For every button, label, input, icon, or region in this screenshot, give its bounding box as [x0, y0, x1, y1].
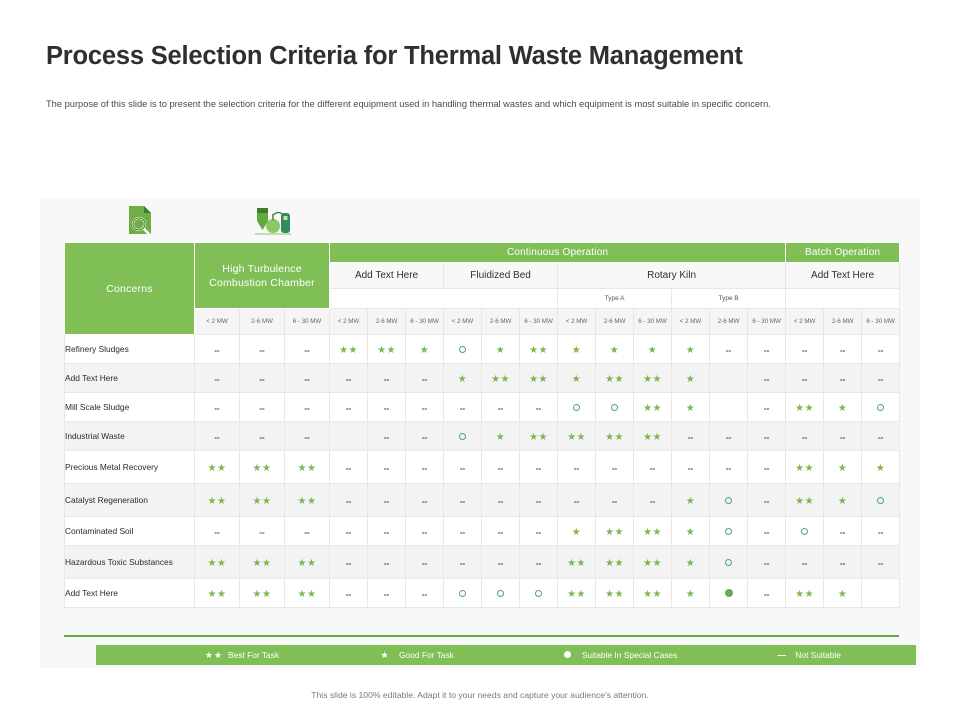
marker-not-suitable: --	[384, 529, 389, 537]
cell-r9-c13: ★	[672, 579, 710, 608]
cell-r6-c12: --	[634, 484, 672, 517]
cell-r4-c4	[330, 422, 368, 451]
cell-r7-c7: --	[444, 517, 482, 546]
cell-r9-c18	[862, 579, 900, 608]
cell-r4-c5: --	[368, 422, 406, 451]
header-mw-8: 2-6 MW	[482, 309, 520, 335]
table-row: Catalyst Regeneration★★★★★★-------------…	[65, 484, 900, 517]
cell-r5-c3: ★★	[285, 451, 330, 484]
cell-r8-c1: ★★	[195, 546, 240, 579]
marker-not-suitable: --	[764, 376, 769, 384]
cell-r1-c17: --	[824, 335, 862, 364]
industrial-plant-icon	[254, 204, 292, 236]
cell-r4-c7	[444, 422, 482, 451]
cell-r6-c5: --	[368, 484, 406, 517]
marker-not-suitable: --	[422, 591, 427, 599]
table-row: Refinery Sludges------★★★★★★★★★★★★------…	[65, 335, 900, 364]
marker-best-for-task: ★★	[795, 497, 814, 507]
cell-r3-c15: --	[748, 393, 786, 422]
cell-r4-c3: --	[285, 422, 330, 451]
marker-not-suitable: --	[764, 434, 769, 442]
marker-not-suitable: --	[878, 347, 883, 355]
marker-not-suitable: --	[304, 529, 309, 537]
cell-r9-c9	[520, 579, 558, 608]
marker-good-for-task: ★	[686, 346, 695, 356]
cell-r3-c7: --	[444, 393, 482, 422]
cell-r5-c8: --	[482, 451, 520, 484]
cell-r2-c13: ★	[672, 364, 710, 393]
cell-r7-c9: --	[520, 517, 558, 546]
marker-not-suitable: --	[498, 405, 503, 413]
table-row: Add Text Here------------★★★★★★★★★★★----…	[65, 364, 900, 393]
marker-not-suitable: --	[764, 529, 769, 537]
cell-r7-c16	[786, 517, 824, 546]
cell-r8-c7: --	[444, 546, 482, 579]
cell-r2-c12: ★★	[634, 364, 672, 393]
cell-r4-c11: ★★	[596, 422, 634, 451]
marker-not-suitable: --	[802, 376, 807, 384]
cell-r2-c8: ★★	[482, 364, 520, 393]
cell-r4-c10: ★★	[558, 422, 596, 451]
marker-best-for-task: ★★	[253, 464, 272, 474]
marker-good-for-task: ★	[686, 375, 695, 385]
marker-best-for-task: ★★	[529, 346, 548, 356]
cell-r1-c8: ★	[482, 335, 520, 364]
legend-label-4: Not Suitable	[795, 650, 841, 660]
cell-r7-c6: --	[406, 517, 444, 546]
marker-best-for-task: ★★	[643, 433, 662, 443]
table-row: Industrial Waste----------★★★★★★★★★-----…	[65, 422, 900, 451]
header-type-blank-2	[786, 289, 900, 309]
marker-good-for-task: ★	[838, 404, 847, 414]
cell-r5-c1: ★★	[195, 451, 240, 484]
legend-item-1: ★★Best For Task	[200, 650, 279, 661]
marker-not-suitable: --	[422, 498, 427, 506]
cell-r7-c12: ★★	[634, 517, 672, 546]
marker-special-case-outline	[801, 528, 808, 535]
marker-special-case-outline	[725, 559, 732, 566]
cell-r7-c8: --	[482, 517, 520, 546]
cell-r8-c8: --	[482, 546, 520, 579]
marker-not-suitable: --	[422, 434, 427, 442]
cell-r9-c12: ★★	[634, 579, 672, 608]
cell-r2-c7: ★	[444, 364, 482, 393]
cell-r8-c6: --	[406, 546, 444, 579]
cell-r5-c4: --	[330, 451, 368, 484]
cell-r1-c16: --	[786, 335, 824, 364]
header-type-blank	[330, 289, 558, 309]
marker-good-for-task: ★	[838, 464, 847, 474]
marker-good-for-task: ★	[496, 346, 505, 356]
cell-r1-c11: ★	[596, 335, 634, 364]
cell-r7-c5: --	[368, 517, 406, 546]
cell-r7-c13: ★	[672, 517, 710, 546]
header-high-turbulence-combustion-chamber: High Turbulence Combustion Chamber	[195, 243, 330, 309]
cell-r8-c11: ★★	[596, 546, 634, 579]
marker-best-for-task: ★★	[567, 590, 586, 600]
cell-r3-c9: --	[520, 393, 558, 422]
marker-not-suitable: --	[536, 498, 541, 506]
header-concerns: Concerns	[65, 243, 195, 335]
marker-special-case-outline	[535, 590, 542, 597]
cell-r2-c16: --	[786, 364, 824, 393]
cell-r5-c13: --	[672, 451, 710, 484]
cell-r7-c15: --	[748, 517, 786, 546]
header-mw-15: 6 - 30 MW	[748, 309, 786, 335]
marker-best-for-task: ★★	[298, 590, 317, 600]
marker-not-suitable: --	[460, 405, 465, 413]
cell-r2-c14	[710, 364, 748, 393]
marker-not-suitable: --	[536, 405, 541, 413]
marker-not-suitable: --	[878, 529, 883, 537]
marker-not-suitable: --	[259, 405, 264, 413]
cell-r2-c1: --	[195, 364, 240, 393]
cell-r9-c7	[444, 579, 482, 608]
header-type-a: Type A	[558, 289, 672, 309]
cell-r9-c15: --	[748, 579, 786, 608]
legend-marker-4: ––	[767, 650, 795, 660]
marker-good-for-task: ★	[420, 346, 429, 356]
marker-good-for-task: ★	[458, 375, 467, 385]
cell-r1-c15: --	[748, 335, 786, 364]
marker-not-suitable: --	[304, 347, 309, 355]
cell-r5-c14: --	[710, 451, 748, 484]
cell-r9-c5: --	[368, 579, 406, 608]
marker-not-suitable: --	[346, 529, 351, 537]
cell-r4-c13: --	[672, 422, 710, 451]
marker-not-suitable: --	[422, 376, 427, 384]
cell-r3-c12: ★★	[634, 393, 672, 422]
row-label-5: Precious Metal Recovery	[65, 451, 195, 484]
cell-r6-c17: ★	[824, 484, 862, 517]
cell-r6-c14	[710, 484, 748, 517]
header-mw-9: 6 - 30 MW	[520, 309, 558, 335]
marker-not-suitable: --	[574, 465, 579, 473]
cell-r4-c8: ★	[482, 422, 520, 451]
cell-r8-c10: ★★	[558, 546, 596, 579]
cell-r3-c11	[596, 393, 634, 422]
cell-r9-c6: --	[406, 579, 444, 608]
cell-r2-c5: --	[368, 364, 406, 393]
marker-good-for-task: ★	[838, 497, 847, 507]
marker-good-for-task: ★	[838, 590, 847, 600]
marker-not-suitable: --	[498, 465, 503, 473]
marker-special-case-outline	[573, 404, 580, 411]
marker-not-suitable: --	[384, 498, 389, 506]
marker-not-suitable: --	[802, 560, 807, 568]
cell-r3-c16: ★★	[786, 393, 824, 422]
header-mw-1: < 2 MW	[195, 309, 240, 335]
table-panel: Concerns High Turbulence Combustion Cham…	[40, 198, 920, 668]
cell-r4-c2: --	[240, 422, 285, 451]
marker-not-suitable: --	[536, 560, 541, 568]
cell-r8-c4: --	[330, 546, 368, 579]
cell-r4-c1: --	[195, 422, 240, 451]
marker-not-suitable: --	[764, 591, 769, 599]
marker-best-for-task: ★★	[567, 559, 586, 569]
marker-not-suitable: --	[422, 405, 427, 413]
cell-r8-c14	[710, 546, 748, 579]
cell-r4-c14: --	[710, 422, 748, 451]
cell-r6-c18	[862, 484, 900, 517]
cell-r8-c2: ★★	[240, 546, 285, 579]
marker-not-suitable: --	[384, 560, 389, 568]
cell-r5-c5: --	[368, 451, 406, 484]
marker-good-for-task: ★	[496, 433, 505, 443]
header-batch-operation: Batch Operation	[786, 243, 900, 263]
marker-not-suitable: --	[422, 529, 427, 537]
cell-r1-c6: ★	[406, 335, 444, 364]
marker-not-suitable: --	[346, 465, 351, 473]
header-mw-3: 6 - 30 MW	[285, 309, 330, 335]
marker-special-case-outline	[725, 528, 732, 535]
header-add-text-here-1: Add Text Here	[330, 263, 444, 289]
marker-not-suitable: --	[460, 498, 465, 506]
cell-r8-c12: ★★	[634, 546, 672, 579]
row-label-2: Add Text Here	[65, 364, 195, 393]
marker-not-suitable: --	[460, 560, 465, 568]
header-mw-14: 2-6 MW	[710, 309, 748, 335]
marker-best-for-task: ★★	[605, 433, 624, 443]
legend-label-3: Suitable In Special Cases	[582, 650, 677, 660]
cell-r1-c2: --	[240, 335, 285, 364]
marker-not-suitable: --	[346, 591, 351, 599]
cell-r2-c17: --	[824, 364, 862, 393]
header-rotary-kiln: Rotary Kiln	[558, 263, 786, 289]
row-label-3: Mill Scale Sludge	[65, 393, 195, 422]
cell-r1-c5: ★★	[368, 335, 406, 364]
cell-r6-c9: --	[520, 484, 558, 517]
marker-not-suitable: --	[764, 405, 769, 413]
cell-r8-c16: --	[786, 546, 824, 579]
cell-r2-c10: ★	[558, 364, 596, 393]
marker-best-for-task: ★★	[529, 375, 548, 385]
cell-r3-c13: ★	[672, 393, 710, 422]
row-label-4: Industrial Waste	[65, 422, 195, 451]
cell-r4-c16: --	[786, 422, 824, 451]
cell-r5-c9: --	[520, 451, 558, 484]
marker-not-suitable: --	[259, 347, 264, 355]
cell-r8-c17: --	[824, 546, 862, 579]
cell-r8-c9: --	[520, 546, 558, 579]
marker-best-for-task: ★★	[253, 497, 272, 507]
marker-not-suitable: --	[259, 529, 264, 537]
cell-r6-c7: --	[444, 484, 482, 517]
cell-r4-c17: --	[824, 422, 862, 451]
marker-best-for-task: ★★	[643, 559, 662, 569]
cell-r9-c14	[710, 579, 748, 608]
marker-not-suitable: --	[840, 347, 845, 355]
row-label-7: Contaminated Soil	[65, 517, 195, 546]
cell-r8-c5: --	[368, 546, 406, 579]
marker-best-for-task: ★★	[643, 590, 662, 600]
marker-not-suitable: --	[384, 591, 389, 599]
marker-not-suitable: --	[840, 560, 845, 568]
cell-r2-c9: ★★	[520, 364, 558, 393]
marker-not-suitable: --	[346, 560, 351, 568]
cell-r3-c1: --	[195, 393, 240, 422]
marker-not-suitable: --	[384, 434, 389, 442]
cell-r2-c6: --	[406, 364, 444, 393]
marker-special-case-outline	[459, 346, 466, 353]
cell-r5-c7: --	[444, 451, 482, 484]
cell-r6-c13: ★	[672, 484, 710, 517]
cell-r9-c8	[482, 579, 520, 608]
marker-best-for-task: ★★	[605, 559, 624, 569]
marker-special-case-outline	[725, 497, 732, 504]
page-title: Process Selection Criteria for Thermal W…	[46, 42, 743, 71]
marker-not-suitable: --	[346, 405, 351, 413]
legend-marker-2: ★	[371, 650, 399, 661]
marker-best-for-task: ★★	[208, 590, 227, 600]
marker-not-suitable: --	[304, 405, 309, 413]
table-body: Refinery Sludges------★★★★★★★★★★★★------…	[65, 335, 900, 608]
cell-r3-c8: --	[482, 393, 520, 422]
marker-not-suitable: --	[460, 465, 465, 473]
marker-not-suitable: --	[726, 465, 731, 473]
marker-not-suitable: --	[422, 560, 427, 568]
marker-not-suitable: --	[259, 376, 264, 384]
marker-not-suitable: --	[650, 465, 655, 473]
marker-not-suitable: --	[650, 498, 655, 506]
marker-special-case-outline	[459, 433, 466, 440]
cell-r7-c18: --	[862, 517, 900, 546]
cell-r3-c3: --	[285, 393, 330, 422]
footer-note: This slide is 100% editable. Adapt it to…	[0, 690, 960, 700]
cell-r2-c15: --	[748, 364, 786, 393]
cell-r4-c6: --	[406, 422, 444, 451]
cell-r2-c11: ★★	[596, 364, 634, 393]
cell-r2-c2: --	[240, 364, 285, 393]
cell-r3-c6: --	[406, 393, 444, 422]
header-mw-18: 6 - 30 MW	[862, 309, 900, 335]
marker-not-suitable: --	[726, 434, 731, 442]
marker-not-suitable: --	[498, 498, 503, 506]
marker-not-suitable: --	[878, 434, 883, 442]
cell-r6-c15: --	[748, 484, 786, 517]
cell-r7-c14	[710, 517, 748, 546]
cell-r4-c18: --	[862, 422, 900, 451]
marker-not-suitable: --	[214, 529, 219, 537]
marker-not-suitable: --	[688, 465, 693, 473]
marker-not-suitable: --	[764, 465, 769, 473]
marker-not-suitable: --	[384, 376, 389, 384]
marker-not-suitable: --	[764, 498, 769, 506]
legend-label-1: Best For Task	[228, 650, 279, 660]
row-label-9: Add Text Here	[65, 579, 195, 608]
cell-r9-c10: ★★	[558, 579, 596, 608]
cell-r9-c17: ★	[824, 579, 862, 608]
cell-r1-c9: ★★	[520, 335, 558, 364]
cell-r7-c3: --	[285, 517, 330, 546]
marker-best-for-task: ★★	[643, 404, 662, 414]
marker-special-case-outline	[877, 497, 884, 504]
marker-best-for-task: ★★	[795, 464, 814, 474]
marker-best-for-task: ★★	[208, 497, 227, 507]
cell-r9-c16: ★★	[786, 579, 824, 608]
document-search-icon	[124, 204, 156, 236]
marker-not-suitable: --	[840, 376, 845, 384]
marker-not-suitable: --	[878, 560, 883, 568]
cell-r9-c2: ★★	[240, 579, 285, 608]
marker-good-for-task: ★	[572, 346, 581, 356]
marker-not-suitable: --	[346, 498, 351, 506]
cell-r5-c18: ★	[862, 451, 900, 484]
marker-not-suitable: --	[304, 434, 309, 442]
marker-not-suitable: --	[259, 434, 264, 442]
marker-not-suitable: --	[214, 347, 219, 355]
cell-r5-c12: --	[634, 451, 672, 484]
cell-r8-c3: ★★	[285, 546, 330, 579]
marker-good-for-task: ★	[686, 404, 695, 414]
cell-r9-c4: --	[330, 579, 368, 608]
header-mw-12: 6 - 30 MW	[634, 309, 672, 335]
header-mw-2: 2-6 MW	[240, 309, 285, 335]
table-row: Contaminated Soil------------------★★★★★…	[65, 517, 900, 546]
legend-marker-1: ★★	[200, 650, 228, 661]
marker-best-for-task: ★★	[339, 346, 358, 356]
cell-r1-c14: --	[710, 335, 748, 364]
marker-not-suitable: --	[574, 498, 579, 506]
marker-best-for-task: ★★	[208, 559, 227, 569]
table-row: Add Text Here★★★★★★------★★★★★★★--★★★	[65, 579, 900, 608]
cell-r5-c10: --	[558, 451, 596, 484]
marker-special-case-outline	[459, 590, 466, 597]
marker-best-for-task: ★★	[491, 375, 510, 385]
cell-r4-c9: ★★	[520, 422, 558, 451]
cell-r3-c5: --	[368, 393, 406, 422]
cell-r5-c2: ★★	[240, 451, 285, 484]
marker-good-for-task: ★	[572, 528, 581, 538]
marker-best-for-task: ★★	[643, 375, 662, 385]
legend-label-2: Good For Task	[399, 650, 454, 660]
cell-r9-c11: ★★	[596, 579, 634, 608]
marker-best-for-task: ★★	[795, 404, 814, 414]
cell-r6-c2: ★★	[240, 484, 285, 517]
cell-r8-c18: --	[862, 546, 900, 579]
marker-not-suitable: --	[214, 376, 219, 384]
table-bottom-rule	[64, 635, 899, 637]
cell-r3-c17: ★	[824, 393, 862, 422]
marker-best-for-task: ★★	[605, 528, 624, 538]
header-add-text-here-2: Add Text Here	[786, 263, 900, 289]
marker-not-suitable: --	[346, 376, 351, 384]
marker-good-for-task: ★	[876, 464, 885, 474]
icon-strip	[40, 198, 920, 242]
header-row-operation: Concerns High Turbulence Combustion Cham…	[65, 243, 900, 263]
header-mw-4: < 2 MW	[330, 309, 368, 335]
cell-r6-c1: ★★	[195, 484, 240, 517]
marker-special-case-outline	[877, 404, 884, 411]
cell-r1-c13: ★	[672, 335, 710, 364]
marker-best-for-task: ★★	[208, 464, 227, 474]
cell-r4-c15: --	[748, 422, 786, 451]
row-label-6: Catalyst Regeneration	[65, 484, 195, 517]
cell-r6-c8: --	[482, 484, 520, 517]
cell-r1-c12: ★	[634, 335, 672, 364]
legend-item-4: ––Not Suitable	[767, 650, 841, 660]
cell-r1-c18: --	[862, 335, 900, 364]
cell-r6-c6: --	[406, 484, 444, 517]
marker-best-for-task: ★★	[377, 346, 396, 356]
row-label-1: Refinery Sludges	[65, 335, 195, 364]
marker-best-for-task: ★★	[643, 528, 662, 538]
legend-item-2: ★Good For Task	[371, 650, 454, 661]
header-mw-5: 2-6 MW	[368, 309, 406, 335]
marker-not-suitable: --	[422, 465, 427, 473]
cell-r7-c17: --	[824, 517, 862, 546]
marker-not-suitable: --	[802, 434, 807, 442]
